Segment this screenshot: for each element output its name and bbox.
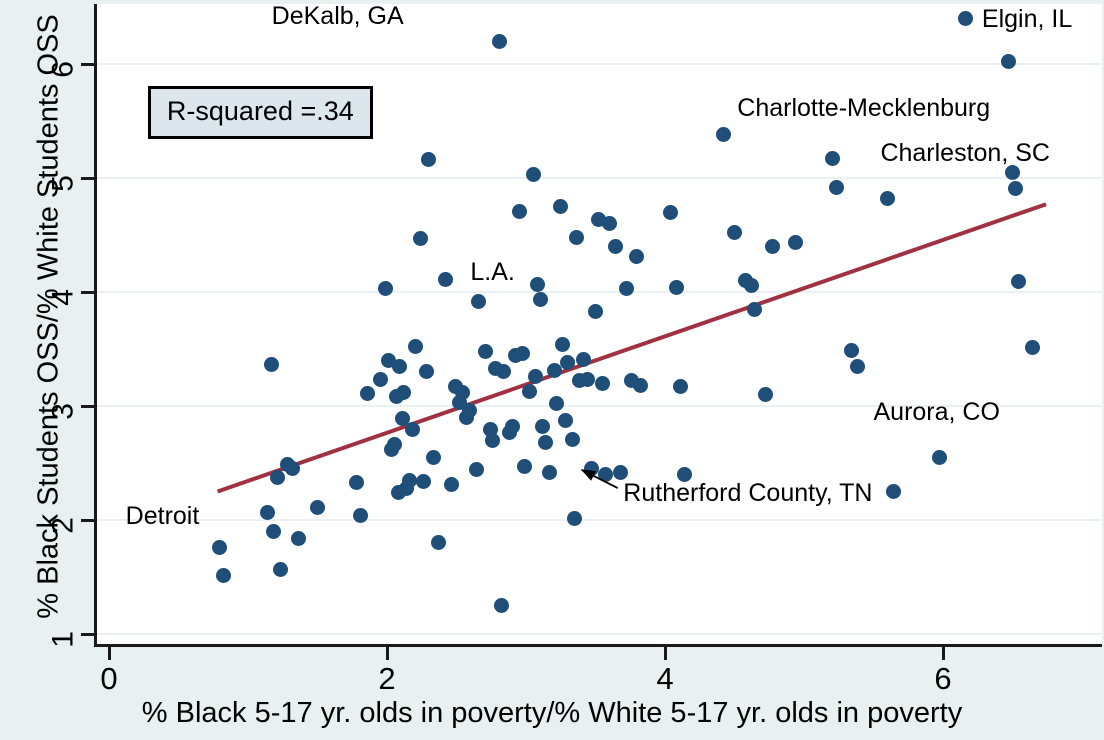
data-point: [426, 450, 441, 465]
data-point: [663, 205, 678, 220]
point-label: Rutherford County, TN: [623, 479, 872, 508]
y-tick-label: 5: [47, 175, 81, 192]
data-point: [565, 432, 580, 447]
data-point: [758, 387, 773, 402]
gridline: [97, 177, 1102, 179]
x-tick-label: 0: [89, 661, 129, 697]
data-point: [588, 304, 603, 319]
data-point: [1008, 181, 1023, 196]
data-point: [496, 364, 511, 379]
data-point: [535, 419, 550, 434]
point-label: Charlotte-Mecklenburg: [737, 94, 990, 123]
data-point: [958, 11, 973, 26]
data-point: [416, 474, 431, 489]
x-tick-mark: [386, 647, 389, 660]
data-point: [727, 225, 742, 240]
data-point: [462, 403, 477, 418]
data-point: [273, 562, 288, 577]
y-axis-title: % Black Students OSS/% White Students OS…: [33, 0, 66, 647]
data-point: [880, 191, 895, 206]
y-tick-mark: [81, 405, 94, 408]
data-point: [431, 535, 446, 550]
data-point: [266, 524, 281, 539]
data-point: [580, 372, 595, 387]
data-point: [421, 152, 436, 167]
data-point: [471, 294, 486, 309]
data-point: [387, 437, 402, 452]
data-point: [413, 231, 428, 246]
data-point: [526, 167, 541, 182]
point-label: Elgin, IL: [982, 5, 1072, 34]
x-axis-title: % Black 5-17 yr. olds in poverty/% White…: [0, 697, 1104, 730]
data-point: [547, 363, 562, 378]
data-point: [1011, 274, 1026, 289]
data-point: [788, 235, 803, 250]
data-point: [515, 346, 530, 361]
data-point: [310, 500, 325, 515]
data-point: [558, 413, 573, 428]
x-tick-label: 2: [367, 661, 407, 697]
data-point: [608, 239, 623, 254]
point-label: L.A.: [470, 258, 514, 287]
data-point: [438, 272, 453, 287]
y-tick-label: 6: [47, 61, 81, 78]
x-tick-mark: [942, 647, 945, 660]
data-point: [1001, 54, 1016, 69]
data-point: [455, 385, 470, 400]
data-point: [576, 352, 591, 367]
y-tick-mark: [81, 177, 94, 180]
x-tick-mark: [108, 647, 111, 660]
data-point: [629, 249, 644, 264]
y-tick-mark: [81, 63, 94, 66]
gridline: [97, 63, 1102, 65]
point-label: Aurora, CO: [874, 398, 1000, 427]
data-point: [844, 343, 859, 358]
data-point: [567, 511, 582, 526]
x-tick-label: 6: [923, 661, 963, 697]
data-point: [829, 180, 844, 195]
scatter-plot-figure: % Black Students OSS/% White Students OS…: [0, 0, 1104, 740]
y-tick-mark: [81, 519, 94, 522]
data-point: [542, 465, 557, 480]
data-point: [270, 470, 285, 485]
data-point: [528, 369, 543, 384]
data-point: [850, 359, 865, 374]
data-point: [216, 568, 231, 583]
data-point: [444, 477, 459, 492]
data-point: [517, 459, 532, 474]
data-point: [619, 281, 634, 296]
data-point: [291, 531, 306, 546]
data-point: [538, 435, 553, 450]
data-point: [555, 337, 570, 352]
gridline: [97, 291, 1102, 293]
data-point: [765, 239, 780, 254]
y-tick-mark: [81, 291, 94, 294]
y-tick-label: 1: [47, 631, 81, 648]
data-point: [360, 386, 375, 401]
data-point: [408, 339, 423, 354]
data-point: [1025, 340, 1040, 355]
y-tick-label: 3: [47, 403, 81, 420]
data-point: [478, 344, 493, 359]
gridline: [97, 519, 1102, 521]
data-point: [716, 127, 731, 142]
r-squared-annotation: R-squared =.34: [148, 86, 373, 139]
data-point: [553, 199, 568, 214]
data-point: [886, 484, 901, 499]
data-point: [285, 461, 300, 476]
data-point: [419, 364, 434, 379]
y-tick-label: 2: [47, 517, 81, 534]
data-point: [505, 419, 520, 434]
data-point: [392, 359, 407, 374]
data-point: [494, 598, 509, 613]
data-point: [349, 475, 364, 490]
data-point: [533, 292, 548, 307]
data-point: [595, 376, 610, 391]
data-point: [602, 216, 617, 231]
data-point: [633, 378, 648, 393]
data-point: [485, 433, 500, 448]
data-point: [373, 372, 388, 387]
data-point: [825, 151, 840, 166]
data-point: [549, 396, 564, 411]
data-point: [613, 465, 628, 480]
data-point: [492, 34, 507, 49]
point-label: Detroit: [126, 502, 200, 531]
x-tick-mark: [664, 647, 667, 660]
data-point: [584, 461, 599, 476]
data-point: [512, 204, 527, 219]
data-point: [378, 281, 393, 296]
data-point: [569, 230, 584, 245]
data-point: [522, 384, 537, 399]
data-point: [396, 385, 411, 400]
data-point: [673, 379, 688, 394]
data-point: [932, 450, 947, 465]
point-label: Charleston, SC: [880, 139, 1050, 168]
gridline: [97, 633, 1102, 635]
y-tick-mark: [81, 633, 94, 636]
data-point: [598, 467, 613, 482]
data-point: [560, 355, 575, 370]
data-point: [212, 540, 227, 555]
data-point: [264, 357, 279, 372]
data-point: [744, 278, 759, 293]
data-point: [530, 277, 545, 292]
x-tick-label: 4: [645, 661, 685, 697]
data-point: [405, 422, 420, 437]
data-point: [669, 280, 684, 295]
data-point: [260, 505, 275, 520]
point-label: DeKalb, GA: [272, 2, 404, 31]
y-tick-label: 4: [47, 289, 81, 306]
data-point: [402, 473, 417, 488]
data-point: [469, 462, 484, 477]
data-point: [747, 302, 762, 317]
